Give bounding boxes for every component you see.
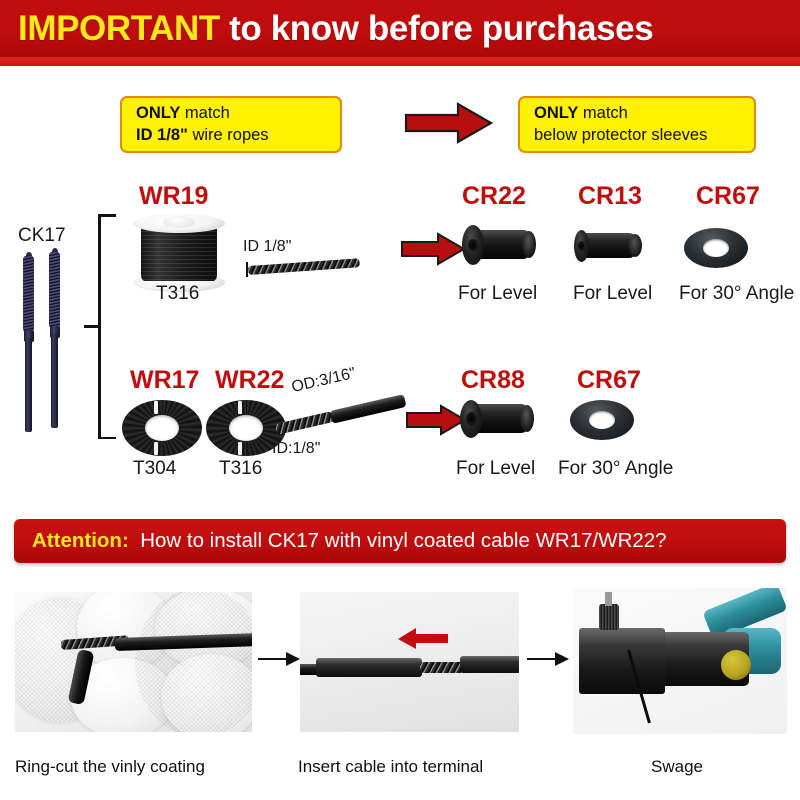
bracket-top-tip bbox=[98, 214, 116, 217]
banner-title-highlight: IMPORTANT bbox=[18, 9, 220, 48]
banner-underline bbox=[0, 57, 800, 66]
callout-left-line2-bold: ID 1/8" bbox=[136, 126, 188, 144]
wr22-code-label: WR22 bbox=[215, 366, 284, 395]
callout-left-line1-rest: match bbox=[180, 104, 230, 122]
callout-right-line1: ONLY match bbox=[534, 103, 740, 125]
cr67-row2-use-label: For 30° Angle bbox=[558, 458, 673, 480]
terminal-sleeve bbox=[316, 658, 422, 677]
callout-right-line1-bold: ONLY bbox=[534, 104, 578, 122]
cr13-code-label: CR13 bbox=[578, 182, 642, 211]
row2-cable-id-label: ID:1/8" bbox=[272, 440, 320, 458]
attention-question: How to install CK17 with vinyl coated ca… bbox=[140, 529, 666, 552]
coil-hole bbox=[229, 415, 263, 441]
red-arrow-row1 bbox=[400, 232, 466, 266]
row1-cable-id-label: ID 1/8" bbox=[243, 238, 291, 256]
attention-text: Attention: How to install CK17 with viny… bbox=[32, 529, 667, 553]
exposed-wire-strands bbox=[420, 662, 464, 673]
row2-cable-sheath-icon bbox=[330, 394, 407, 424]
cr88-sleeve-icon bbox=[456, 400, 534, 438]
cr13-sleeve-icon bbox=[570, 230, 644, 262]
banner-title-rest: to know before purchases bbox=[220, 9, 653, 48]
screw-thread bbox=[49, 252, 60, 328]
coil-tie-top bbox=[154, 401, 158, 414]
callout-left-line1: ONLY match bbox=[136, 103, 326, 125]
coil-tie-top bbox=[238, 401, 242, 414]
step3-caption: Swage bbox=[651, 757, 703, 777]
wr22-material-label: T316 bbox=[219, 458, 262, 480]
cr88-use-label: For Level bbox=[456, 458, 535, 480]
sleeve-tail bbox=[520, 405, 534, 432]
washer-hole bbox=[703, 239, 729, 257]
banner-title: IMPORTANT to know before purchases bbox=[18, 9, 653, 49]
wr19-material-label: T316 bbox=[156, 283, 199, 305]
callout-right-line1-rest: match bbox=[578, 104, 628, 122]
sleeve-bore bbox=[578, 241, 585, 251]
step2-photo bbox=[300, 592, 519, 732]
insert-direction-arrow bbox=[396, 628, 448, 655]
swage-tool-pin bbox=[605, 592, 612, 606]
sleeve-tail bbox=[628, 234, 642, 257]
cr88-code-label: CR88 bbox=[461, 366, 525, 395]
step-arrow-1 bbox=[258, 648, 300, 675]
callout-left-line1-bold: ONLY bbox=[136, 104, 180, 122]
cr67-row2-code-label: CR67 bbox=[577, 366, 641, 395]
row1-cable-measure-tick bbox=[246, 262, 248, 277]
callout-right-line2: below protector sleeves bbox=[534, 125, 740, 147]
ck17-screw-left-icon bbox=[22, 252, 35, 432]
screw-shank bbox=[25, 338, 32, 432]
cr22-use-label: For Level bbox=[458, 283, 537, 305]
spool-hub bbox=[163, 216, 195, 228]
wr19-code-label: WR19 bbox=[139, 182, 208, 211]
callout-left-line2: ID 1/8" wire ropes bbox=[136, 125, 326, 147]
ck17-label: CK17 bbox=[18, 225, 66, 247]
sleeve-tail bbox=[522, 231, 536, 258]
row2-cable-od-label: OD:3/16" bbox=[290, 365, 358, 397]
callout-only-match-wire-ropes: ONLY match ID 1/8" wire ropes bbox=[120, 96, 342, 153]
attention-prefix: Attention: bbox=[32, 529, 129, 552]
cr67-row1-washer-icon bbox=[684, 228, 748, 268]
step3-photo bbox=[573, 588, 787, 734]
cr67-row2-washer-icon bbox=[570, 400, 634, 440]
row1-cable-icon bbox=[248, 258, 360, 275]
attention-banner: Attention: How to install CK17 with viny… bbox=[14, 519, 786, 563]
step1-photo bbox=[15, 592, 252, 732]
callout-right-line2-rest: below protector sleeves bbox=[534, 126, 707, 144]
bracket-bottom-tip bbox=[98, 437, 116, 440]
screw-thread bbox=[23, 256, 34, 332]
cr22-sleeve-icon bbox=[458, 225, 536, 265]
cr67-row1-code-label: CR67 bbox=[696, 182, 760, 211]
wr17-material-label: T304 bbox=[133, 458, 176, 480]
wr17-code-label: WR17 bbox=[130, 366, 199, 395]
callout-left-line2-rest: wire ropes bbox=[188, 126, 269, 144]
cr67-row1-use-label: For 30° Angle bbox=[679, 283, 794, 305]
cable-right-sheath bbox=[460, 656, 519, 673]
coil-hole bbox=[145, 415, 179, 441]
glove-knit-texture bbox=[135, 592, 252, 732]
callout-only-match-sleeves: ONLY match below protector sleeves bbox=[518, 96, 756, 153]
ck17-screw-right-icon bbox=[48, 248, 61, 428]
sleeve-bore bbox=[468, 239, 478, 251]
step2-caption: Insert cable into terminal bbox=[298, 757, 483, 777]
screw-shank bbox=[51, 334, 58, 428]
swage-tool-adjust-screw bbox=[599, 604, 619, 630]
sleeve-bore bbox=[466, 412, 477, 426]
wr17-coil-icon bbox=[122, 400, 202, 456]
wr19-spool-icon bbox=[133, 214, 225, 292]
swage-tool-die-head bbox=[579, 628, 665, 694]
grouping-bracket bbox=[84, 214, 114, 439]
cr13-use-label: For Level bbox=[573, 283, 652, 305]
washer-hole bbox=[589, 411, 615, 429]
coil-tie-bottom bbox=[238, 442, 242, 455]
red-arrow-header bbox=[404, 102, 494, 144]
bracket-stem bbox=[84, 325, 100, 328]
coil-tie-bottom bbox=[154, 442, 158, 455]
top-banner: IMPORTANT to know before purchases bbox=[0, 0, 800, 57]
swage-tool-release-knob bbox=[721, 650, 751, 680]
step1-caption: Ring-cut the vinly coating bbox=[15, 757, 205, 777]
infographic-page: IMPORTANT to know before purchases ONLY … bbox=[0, 0, 800, 800]
step-arrow-2 bbox=[527, 648, 569, 675]
cr22-code-label: CR22 bbox=[462, 182, 526, 211]
